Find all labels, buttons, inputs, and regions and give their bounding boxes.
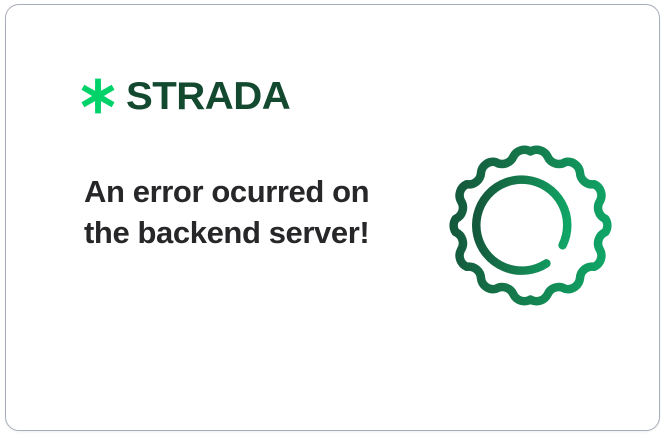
brand-lockup: STRADA (80, 75, 286, 117)
brand-wordmark: STRADA (126, 77, 290, 116)
error-headline: An error ocurred on the backend server! (84, 171, 384, 253)
error-card: STRADA An error ocurred on the backend s… (5, 4, 660, 431)
gear-cog-icon (449, 144, 612, 307)
strada-asterisk-icon (80, 78, 116, 114)
screenshot-root: STRADA An error ocurred on the backend s… (0, 0, 666, 436)
